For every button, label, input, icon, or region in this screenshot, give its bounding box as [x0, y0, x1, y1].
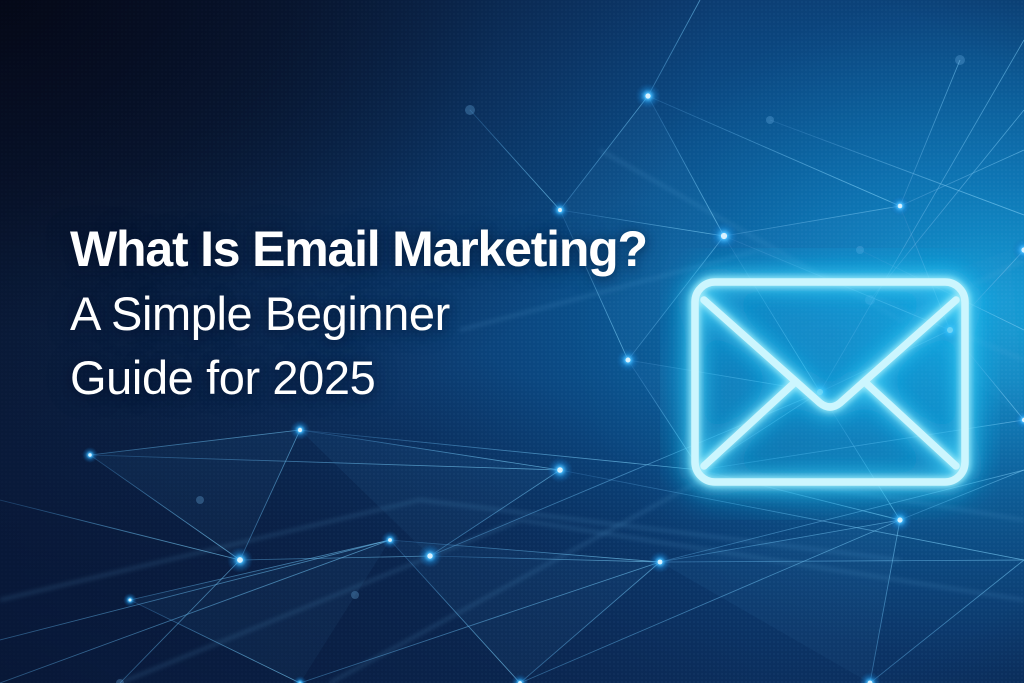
envelope-halo: [680, 264, 980, 500]
envelope-icon: [660, 248, 1000, 520]
headline-line-3: Guide for 2025: [70, 346, 690, 410]
hero-banner: What Is Email Marketing? A Simple Beginn…: [0, 0, 1024, 683]
envelope-glow-mid: [695, 282, 965, 482]
envelope-glow-outer: [695, 282, 965, 482]
headline-line-1: What Is Email Marketing?: [70, 216, 690, 282]
envelope-stroke: [695, 282, 965, 482]
headline-line-2: A Simple Beginner: [70, 282, 690, 346]
envelope-glow-inner: [695, 282, 965, 482]
banner-headline: What Is Email Marketing? A Simple Beginn…: [70, 216, 690, 410]
